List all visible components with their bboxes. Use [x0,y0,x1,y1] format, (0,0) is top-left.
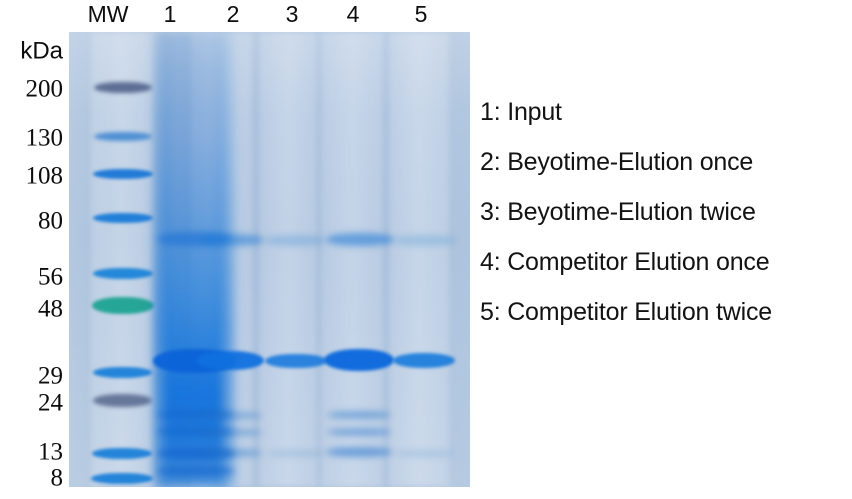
lane3-band-10 [267,450,325,457]
ladder-band-200 [94,82,152,93]
lane4-band-31 [324,349,394,371]
legend: 1: Input 2: Beyotime-Elution once 3: Bey… [480,100,852,350]
lane3-band-31 [265,354,327,368]
mw-axis-title: kDa [20,39,63,64]
legend-item-1: 1: Input [480,100,852,125]
legend-item-3: 3: Beyotime-Elution twice [480,200,852,225]
mw-label-24: 24 [38,391,63,416]
lane4-band-13 [327,428,391,436]
legend-item-4: 4: Competitor Elution once [480,250,852,275]
mw-label-80: 80 [38,209,63,234]
lane2-band-13 [200,429,262,436]
lane-header-1: 1 [164,1,177,27]
lane1-smear-edge-left [153,32,167,487]
lane2-band-10 [200,449,262,457]
mw-label-29: 29 [38,364,63,389]
lane-channel-5 [389,32,449,487]
ladder-band-13 [92,448,152,459]
lane-channel-3 [259,32,317,487]
lane-channel-mw [91,32,153,487]
gel-figure: MW 1 2 3 4 5 kDa 200 130 108 80 56 48 29… [0,0,852,499]
lane-header-3: 3 [286,1,299,27]
lane-header-5: 5 [415,1,428,27]
lane-header-mw: MW [88,1,129,27]
legend-item-5: 5: Competitor Elution twice [480,300,852,325]
mw-label-108: 108 [26,164,64,189]
ladder-band-48 [92,297,154,314]
ladder-band-56 [93,268,153,279]
ladder-band-80 [93,213,153,223]
lane4-band-70 [326,233,394,246]
ladder-band-130 [94,132,152,141]
mw-label-200: 200 [26,77,64,102]
lane-header-4: 4 [347,1,360,27]
mw-label-48: 48 [38,297,63,322]
lane2-band-16 [200,412,262,419]
lane3-band-70 [265,235,325,246]
mw-label-56: 56 [38,265,63,290]
mw-label-8: 8 [51,466,64,491]
lane1-band-9 [157,466,235,476]
lane5-band-70 [394,235,456,246]
gel-image [69,32,470,487]
lane5-band-31 [393,353,455,368]
mw-label-130: 130 [26,126,64,151]
lane2-band-31 [196,351,264,370]
ladder-band-108 [93,169,153,179]
ladder-band-24 [93,394,152,407]
legend-item-2: 2: Beyotime-Elution once [480,150,852,175]
lane2-band-70 [198,234,264,246]
ladder-band-29 [93,367,152,378]
ladder-band-8 [91,473,153,484]
mw-label-13: 13 [38,440,63,465]
lane4-band-16 [327,411,391,419]
lane4-band-10 [326,447,392,457]
lane-header-2: 2 [227,1,240,27]
lane5-band-10 [395,450,453,457]
